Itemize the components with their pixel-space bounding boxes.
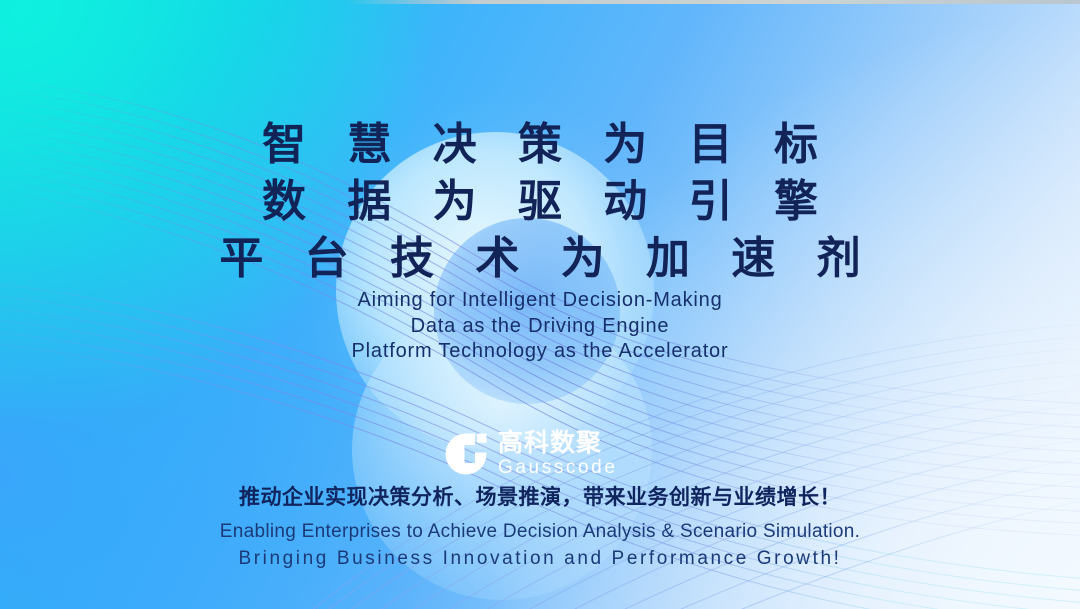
brand-logo: 高科数聚 Gausscode [443,430,618,477]
brand-name-cn: 高科数聚 [498,430,618,455]
brand-logo-text: 高科数聚 Gausscode [498,430,618,477]
headline-line-1: 智 慧 决 策 为 目 标 [0,116,1080,173]
footer-block: 推动企业实现决策分析、场景推演，带来业务创新与业绩增长！ Enabling En… [0,482,1080,572]
top-edge-strip [345,0,1080,4]
subheadline-line-2: Data as the Driving Engine [0,314,1080,340]
headline-block: 智 慧 决 策 为 目 标 数 据 为 驱 动 引 擎 平 台 技 术 为 加 … [0,116,1080,287]
gausscode-g-mark-icon [443,431,489,477]
brand-name-en: Gausscode [498,458,618,477]
subheadline-line-3: Platform Technology as the Accelerator [0,339,1080,365]
promo-poster: 智 慧 决 策 为 目 标 数 据 为 驱 动 引 擎 平 台 技 术 为 加 … [0,0,1080,609]
headline-line-2: 数 据 为 驱 动 引 擎 [0,173,1080,230]
headline-line-3: 平 台 技 术 为 加 速 剂 [0,230,1080,287]
subheadline-line-1: Aiming for Intelligent Decision-Making [0,288,1080,314]
footer-tagline-en-line-1: Enabling Enterprises to Achieve Decision… [0,518,1080,545]
footer-tagline-en-line-2: Bringing Business Innovation and Perform… [0,545,1080,572]
subheadline-block: Aiming for Intelligent Decision-Making D… [0,288,1080,365]
footer-tagline-cn: 推动企业实现决策分析、场景推演，带来业务创新与业绩增长！ [0,482,1080,512]
